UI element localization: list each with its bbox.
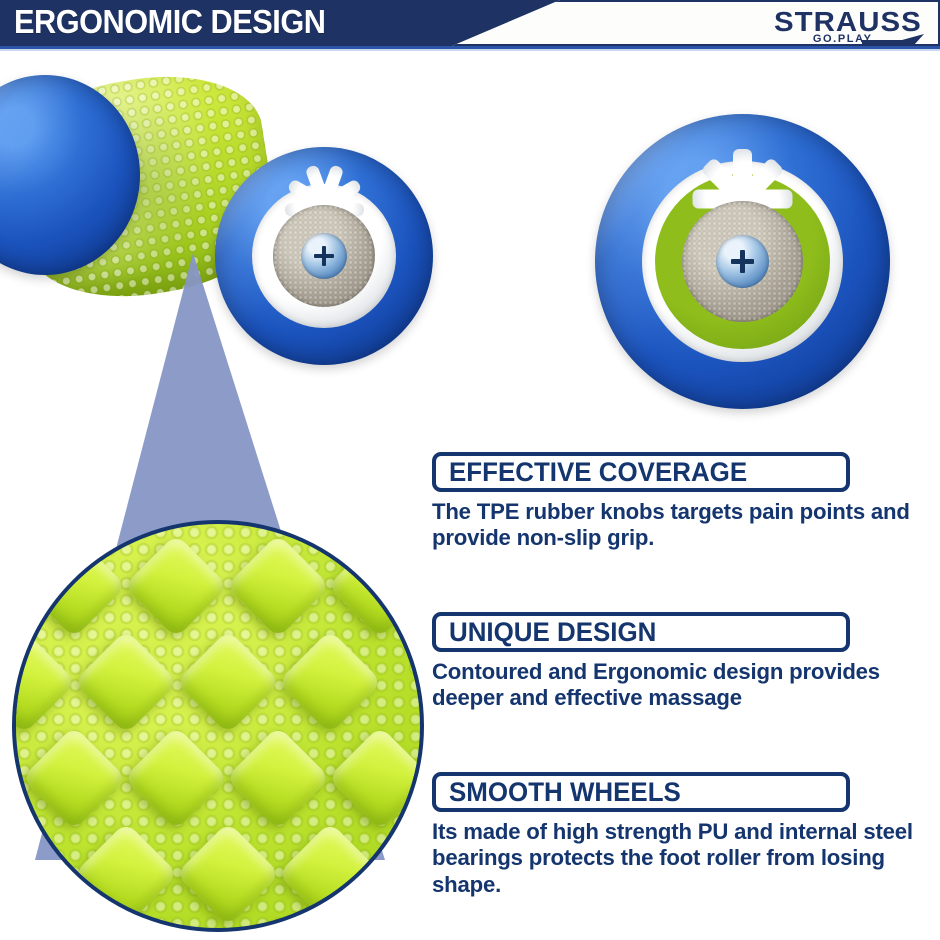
feature-title-box: SMOOTH WHEELS bbox=[432, 772, 850, 812]
rubber-knob bbox=[124, 534, 229, 639]
rubber-knob bbox=[124, 918, 229, 932]
rubber-knob bbox=[226, 726, 331, 831]
knob-closeup-magnifier bbox=[12, 520, 424, 932]
wheel-detail-tire bbox=[595, 114, 890, 409]
product-feature-infographic: ERGONOMIC DESIGN STRAUSS GO.PLAY. bbox=[0, 0, 940, 940]
rubber-knob bbox=[328, 918, 424, 932]
feature-body: Its made of high strength PU and interna… bbox=[432, 819, 929, 898]
strauss-logo: STRAUSS GO.PLAY. bbox=[712, 6, 922, 48]
rubber-knob bbox=[278, 630, 383, 735]
rubber-knob bbox=[22, 726, 127, 831]
rubber-knob bbox=[176, 822, 281, 927]
rubber-knob bbox=[12, 822, 76, 927]
wheel-detail-screw bbox=[716, 235, 769, 288]
wheel-front-screw bbox=[301, 233, 347, 279]
rubber-knob bbox=[226, 534, 331, 639]
product-photo bbox=[0, 52, 940, 452]
rubber-knob bbox=[74, 822, 179, 927]
feature-list: EFFECTIVE COVERAGE The TPE rubber knobs … bbox=[432, 452, 932, 932]
wheel-front-tire bbox=[215, 147, 433, 365]
screw-cross-v bbox=[740, 250, 745, 273]
rubber-knob bbox=[328, 726, 424, 831]
feature-title-box: EFFECTIVE COVERAGE bbox=[432, 452, 850, 492]
feature-title: UNIQUE DESIGN bbox=[449, 619, 656, 646]
screw-cross-v bbox=[322, 246, 326, 266]
feature-title: EFFECTIVE COVERAGE bbox=[449, 459, 747, 486]
rubber-knob bbox=[124, 726, 229, 831]
feature-smooth-wheels: SMOOTH WHEELS Its made of high strength … bbox=[432, 772, 850, 898]
page-title: ERGONOMIC DESIGN bbox=[14, 3, 325, 41]
rubber-knob bbox=[74, 630, 179, 735]
rubber-knob bbox=[226, 918, 331, 932]
feature-effective-coverage: EFFECTIVE COVERAGE The TPE rubber knobs … bbox=[432, 452, 850, 552]
rubber-knob bbox=[12, 630, 76, 735]
foot-roller-image bbox=[0, 57, 440, 447]
rubber-knob bbox=[328, 534, 424, 639]
header-underline-light bbox=[0, 49, 940, 51]
rubber-knob bbox=[176, 630, 281, 735]
feature-title: SMOOTH WHEELS bbox=[449, 779, 681, 806]
feature-title-box: UNIQUE DESIGN bbox=[432, 612, 850, 652]
feature-body: The TPE rubber knobs targets pain points… bbox=[432, 499, 929, 552]
feature-body: Contoured and Ergonomic design provides … bbox=[432, 659, 929, 712]
feature-unique-design: UNIQUE DESIGN Contoured and Ergonomic de… bbox=[432, 612, 850, 712]
rubber-knob bbox=[22, 534, 127, 639]
header-banner: ERGONOMIC DESIGN STRAUSS GO.PLAY. bbox=[0, 0, 940, 52]
rubber-knob bbox=[22, 918, 127, 932]
rubber-knob bbox=[278, 822, 383, 927]
